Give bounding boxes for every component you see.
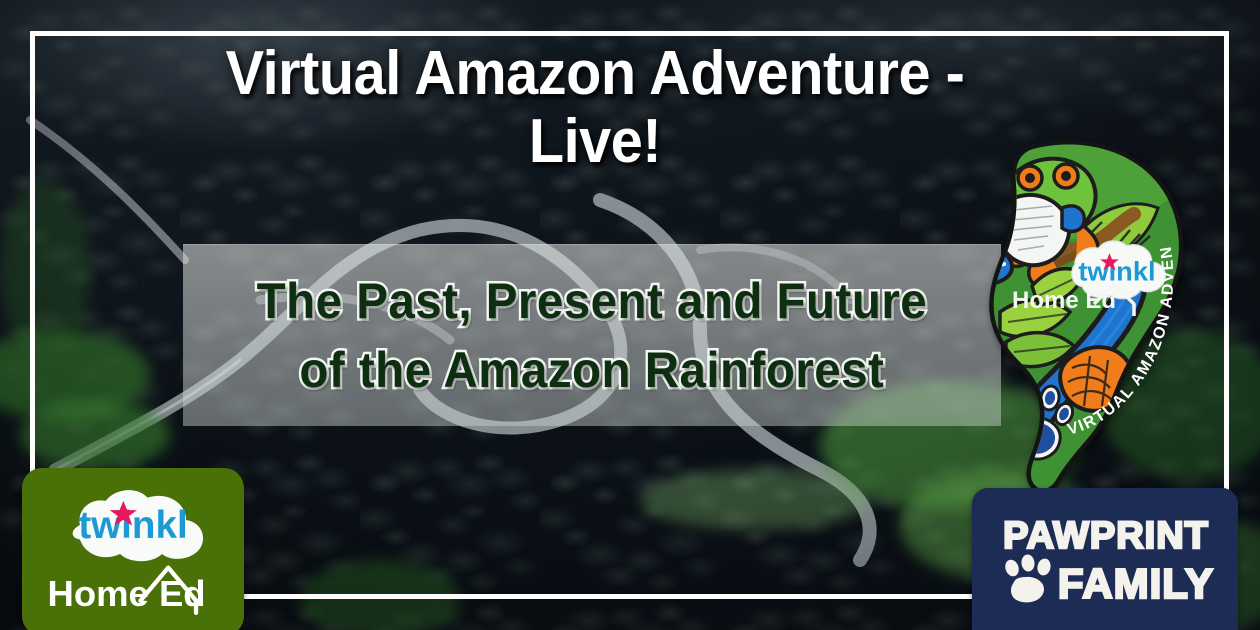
home-ed-lockup: Home Ed (46, 552, 221, 618)
twinkl-home-ed-logo[interactable]: twinkl Home Ed (22, 468, 244, 630)
pawprint-line-2: FAMILY (1058, 560, 1214, 606)
home-ed-label: Home Ed (48, 573, 206, 614)
badge-home-ed-label: Home Ed (1012, 287, 1116, 314)
paw-icon (1003, 554, 1052, 603)
poster-canvas: Virtual Amazon Adventure - Live! The Pas… (0, 0, 1260, 630)
subtitle-line-2: of the Amazon Rainforest (300, 336, 885, 405)
badge-home-ed: Home Ed (1012, 284, 1134, 316)
pawprint-family-wordmark: PAWPRINT FAMILY (984, 510, 1228, 606)
twinkl-cloud-logo: twinkl (50, 488, 216, 562)
virtual-amazon-adventure-badge: twinkl Home Ed VIRTUAL AMAZON ADVENTURE (952, 136, 1214, 494)
subtitle-banner: The Past, Present and Future of the Amaz… (183, 244, 1001, 426)
pawprint-line-1: PAWPRINT (1003, 515, 1209, 557)
pawprint-family-logo[interactable]: PAWPRINT FAMILY (972, 488, 1238, 630)
subtitle-line-1: The Past, Present and Future (257, 267, 928, 336)
title-line-1: Virtual Amazon Adventure - (42, 44, 1149, 104)
